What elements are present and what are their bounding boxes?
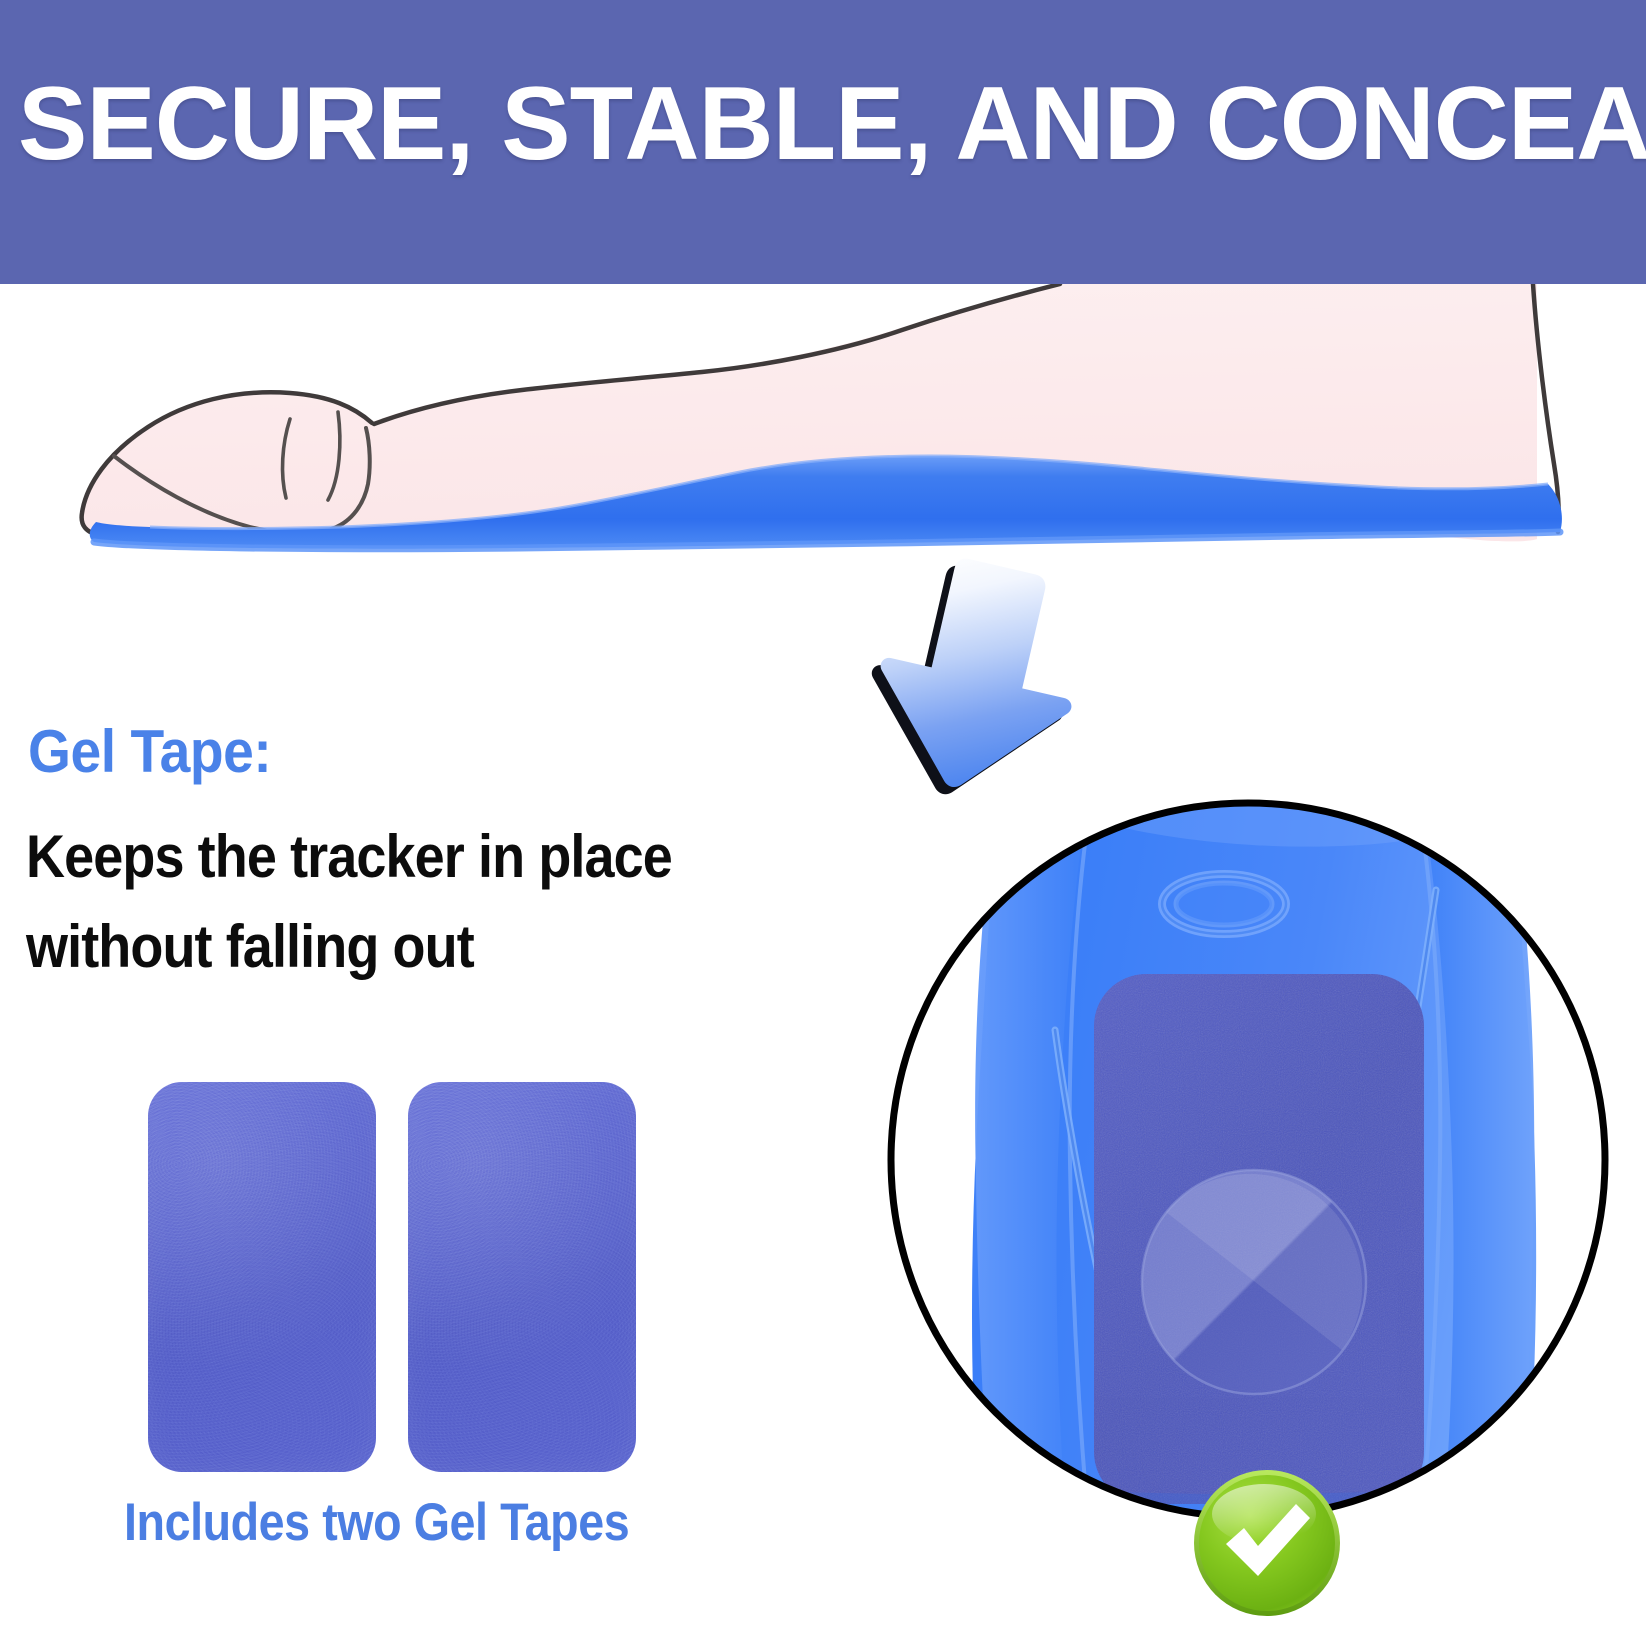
green-check-badge — [1192, 1468, 1342, 1618]
heel-cup-recess — [1162, 874, 1286, 934]
header-banner: SECURE, STABLE, AND CONCEALE — [0, 0, 1646, 284]
down-arrow — [862, 552, 1112, 802]
gel-tape-swatch — [148, 1082, 376, 1472]
magnified-heel-detail — [872, 782, 1624, 1542]
page-title: SECURE, STABLE, AND CONCEALE — [18, 72, 1646, 176]
arrow-shape — [862, 552, 1099, 802]
includes-two-gel-tapes-caption: Includes two Gel Tapes — [124, 1496, 629, 1549]
gel-tape-swatch — [408, 1082, 636, 1472]
magnifier-svg — [872, 782, 1624, 1542]
gel-tape-description-line-2: without falling out — [26, 902, 755, 992]
gel-tape-heading: Gel Tape: — [28, 722, 271, 782]
down-arrow-svg — [862, 552, 1112, 802]
gel-tape-description: Keeps the tracker in place without falli… — [26, 812, 755, 992]
foot-insole-svg — [0, 284, 1646, 554]
tracker-disc — [1142, 1170, 1366, 1394]
gel-tape-swatches — [148, 1082, 648, 1472]
gel-tape-description-line-1: Keeps the tracker in place — [26, 812, 755, 902]
foot-insole-illustration — [0, 284, 1646, 554]
green-check-badge-svg — [1192, 1468, 1342, 1618]
